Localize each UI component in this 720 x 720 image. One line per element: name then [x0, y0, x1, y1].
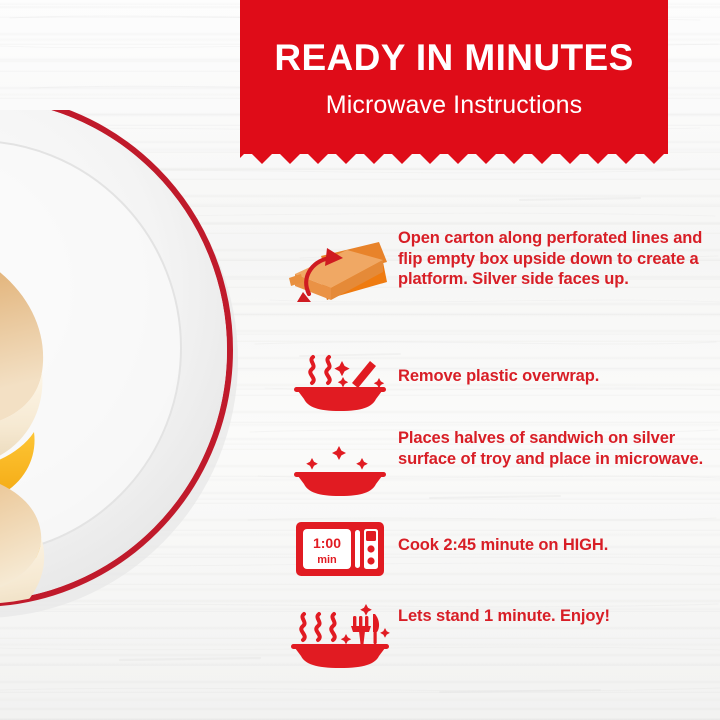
step-remove-overwrap: Remove plastic overwrap. — [284, 342, 704, 420]
plate-illustration — [0, 110, 260, 620]
step-let-stand: Lets stand 1 minute. Enjoy! — [284, 590, 704, 674]
banner-title: READY IN MINUTES — [274, 39, 633, 76]
microwave-unit: min — [317, 554, 337, 566]
sandwich-photo — [0, 110, 260, 620]
step-text: Open carton along perforated lines and f… — [396, 222, 704, 290]
step-cook-high: 1:00 min Cook 2:45 minute on HIGH. — [284, 508, 704, 590]
step-text: Places halves of sandwich on silver surf… — [396, 420, 704, 469]
bowl-sparkle-icon — [284, 420, 396, 508]
instruction-steps: Open carton along perforated lines and f… — [284, 222, 704, 674]
microwave-time: 1:00 — [313, 535, 341, 551]
step-open-carton: Open carton along perforated lines and f… — [284, 222, 704, 342]
bowl-fork-knife-steam-icon — [284, 590, 396, 674]
banner-subtitle: Microwave Instructions — [326, 93, 582, 118]
step-text: Remove plastic overwrap. — [396, 342, 704, 387]
infographic-stage: READY IN MINUTES Microwave Instructions — [0, 0, 720, 720]
step-place-halves: Places halves of sandwich on silver surf… — [284, 420, 704, 508]
carton-flip-icon — [284, 222, 396, 322]
step-text: Cook 2:45 minute on HIGH. — [396, 508, 704, 556]
step-text: Lets stand 1 minute. Enjoy! — [396, 590, 704, 627]
bowl-steam-overwrap-icon — [284, 342, 396, 420]
microwave-icon: 1:00 min — [284, 508, 396, 590]
banner-text-block: READY IN MINUTES Microwave Instructions — [240, 0, 668, 154]
header-banner: READY IN MINUTES Microwave Instructions — [240, 0, 668, 172]
